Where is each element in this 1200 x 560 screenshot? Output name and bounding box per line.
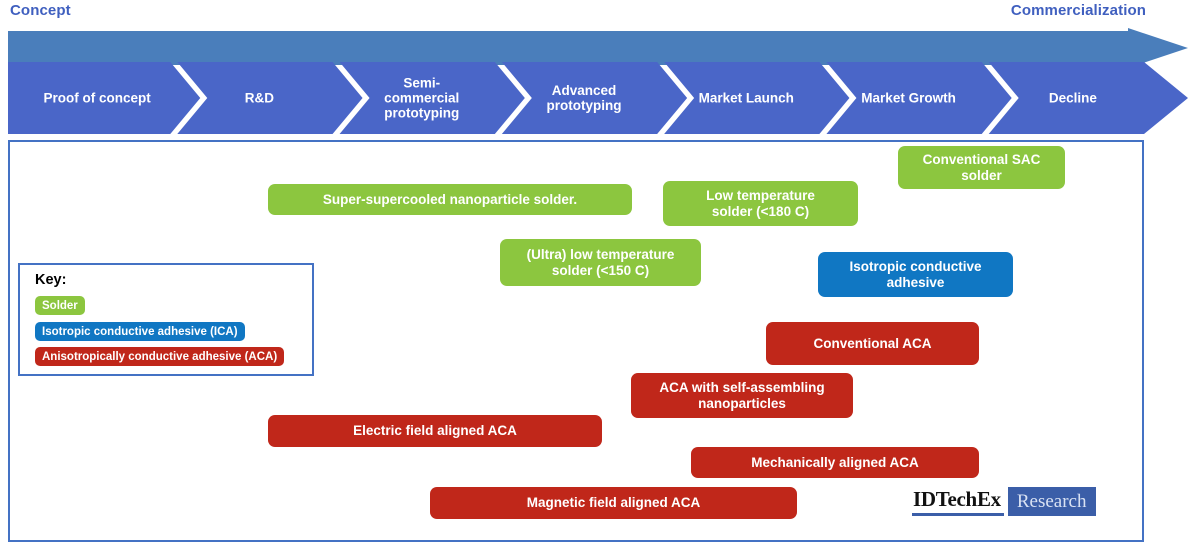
stage-chevron[interactable] [177,62,362,134]
legend-chip: Isotropic conductive adhesive (ICA) [35,322,245,341]
stage-chevron-band [8,62,1188,134]
technology-bar[interactable]: ACA with self-assembling nanoparticles [631,373,853,418]
logo-wordmark: IDTechEx [912,487,1004,516]
technology-bar[interactable]: Conventional SAC solder [898,146,1065,189]
technology-bar[interactable]: Isotropic conductive adhesive [818,252,1013,297]
logo-research-badge: Research [1008,487,1096,516]
legend-title: Key: [35,272,66,288]
technology-bar[interactable]: Super-supercooled nanoparticle solder. [268,184,632,215]
stage-chevron[interactable] [989,62,1188,134]
stage-chevron[interactable] [340,62,525,134]
axis-end-label: Commercialization [1011,2,1146,19]
legend-chip: Anisotropically conductive adhesive (ACA… [35,347,284,366]
technology-bar[interactable]: Mechanically aligned ACA [691,447,979,478]
idtechex-logo: IDTechEx Research [912,487,1096,516]
axis-start-label: Concept [10,2,71,19]
stage-chevron[interactable] [8,62,200,134]
technology-bar[interactable]: (Ultra) low temperature solder (<150 C) [500,239,701,286]
stage-chevron[interactable] [502,62,687,134]
legend-key-box: Key: SolderIsotropic conductive adhesive… [18,263,314,376]
technology-bar[interactable]: Low temperature solder (<180 C) [663,181,858,226]
technology-bar[interactable]: Electric field aligned ACA [268,415,602,447]
technology-bar[interactable]: Conventional ACA [766,322,979,365]
roadmap-diagram: Concept Commercialization Proof of conce… [0,0,1200,560]
legend-chip: Solder [35,296,85,315]
stage-chevron[interactable] [826,62,1011,134]
stage-chevron[interactable] [664,62,849,134]
technology-bar[interactable]: Magnetic field aligned ACA [430,487,797,519]
